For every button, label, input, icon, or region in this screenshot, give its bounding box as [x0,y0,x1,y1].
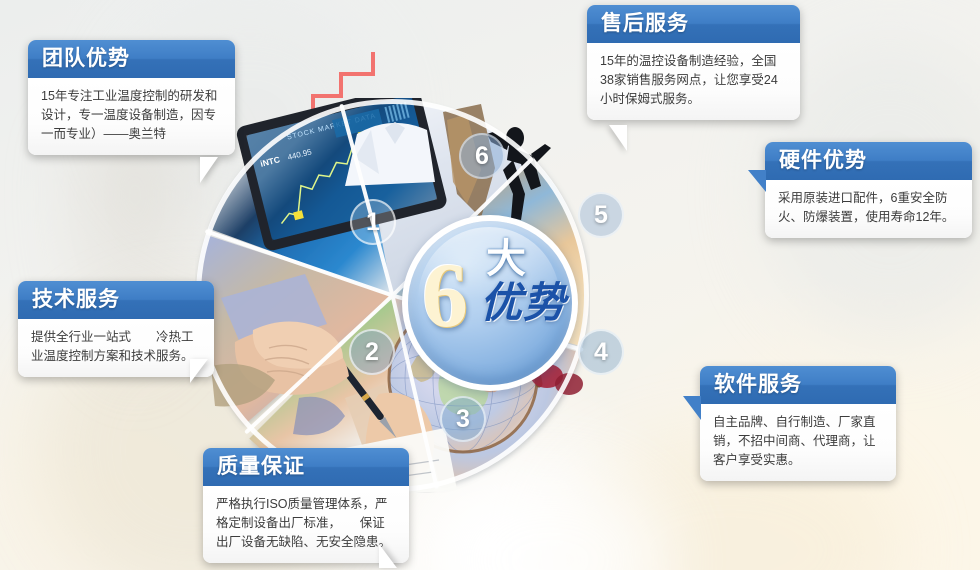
badge-word-big: 大 [486,239,526,279]
callout-body-hardware: 采用原装进口配件，6重安全防火、防爆装置，使用寿命12年。 [765,180,972,238]
callout-card-hardware[interactable]: 硬件优势 采用原装进口配件，6重安全防火、防爆装置，使用寿命12年。 [765,142,972,238]
callout-title-quality: 质量保证 [203,448,409,486]
center-badge: 6 大 优势 [402,215,578,391]
callout-body-software: 自主品牌、自行制造、厂家直销，不招中间商、代理商，让客户享受实惠。 [700,404,896,481]
segment-number-1[interactable]: 1 [350,199,396,245]
center-badge-inner: 6 大 优势 [408,221,572,385]
callout-body-team: 15年专注工业温度控制的研发和设计，专一温度设备制造，因专一而专业）——奥兰特 [28,78,235,155]
callout-card-tech[interactable]: 技术服务 提供全行业一站式 冷热工业温度控制方案和技术服务。 [18,281,214,377]
callout-tail-tech [190,359,208,383]
callout-tail-quality [379,544,397,568]
callout-card-after-sales[interactable]: 售后服务 15年的温控设备制造经验，全国38家销售服务网点，让您享受24小时保姆… [587,5,800,120]
callout-title-tech: 技术服务 [18,281,214,319]
badge-number: 6 [422,249,466,341]
segment-number-6[interactable]: 6 [459,133,505,179]
callout-tail-team [200,157,218,183]
callout-body-after-sales: 15年的温控设备制造经验，全国38家销售服务网点，让您享受24小时保姆式服务。 [587,43,800,120]
callout-tail-after-sales [609,125,627,151]
infographic-canvas: STOCK MARKET DATA iNTC 440.95 [0,0,980,570]
segment-number-4[interactable]: 4 [578,329,624,375]
badge-word-script: 优势 [480,283,566,325]
segment-number-5[interactable]: 5 [578,192,624,238]
segment-number-2[interactable]: 2 [349,329,395,375]
callout-body-tech: 提供全行业一站式 冷热工业温度控制方案和技术服务。 [18,319,214,377]
callout-title-hardware: 硬件优势 [765,142,972,180]
callout-title-after-sales: 售后服务 [587,5,800,43]
callout-card-team[interactable]: 团队优势 15年专注工业温度控制的研发和设计，专一温度设备制造，因专一而专业）—… [28,40,235,155]
callout-title-team: 团队优势 [28,40,235,78]
callout-card-software[interactable]: 软件服务 自主品牌、自行制造、厂家直销，不招中间商、代理商，让客户享受实惠。 [700,366,896,481]
callout-tail-software [683,396,701,420]
callout-title-software: 软件服务 [700,366,896,404]
callout-tail-hardware [748,170,766,192]
segment-number-3[interactable]: 3 [440,396,486,442]
callout-card-quality[interactable]: 质量保证 严格执行ISO质量管理体系，严格定制设备出厂标准， 保证出厂设备无缺陷… [203,448,409,563]
